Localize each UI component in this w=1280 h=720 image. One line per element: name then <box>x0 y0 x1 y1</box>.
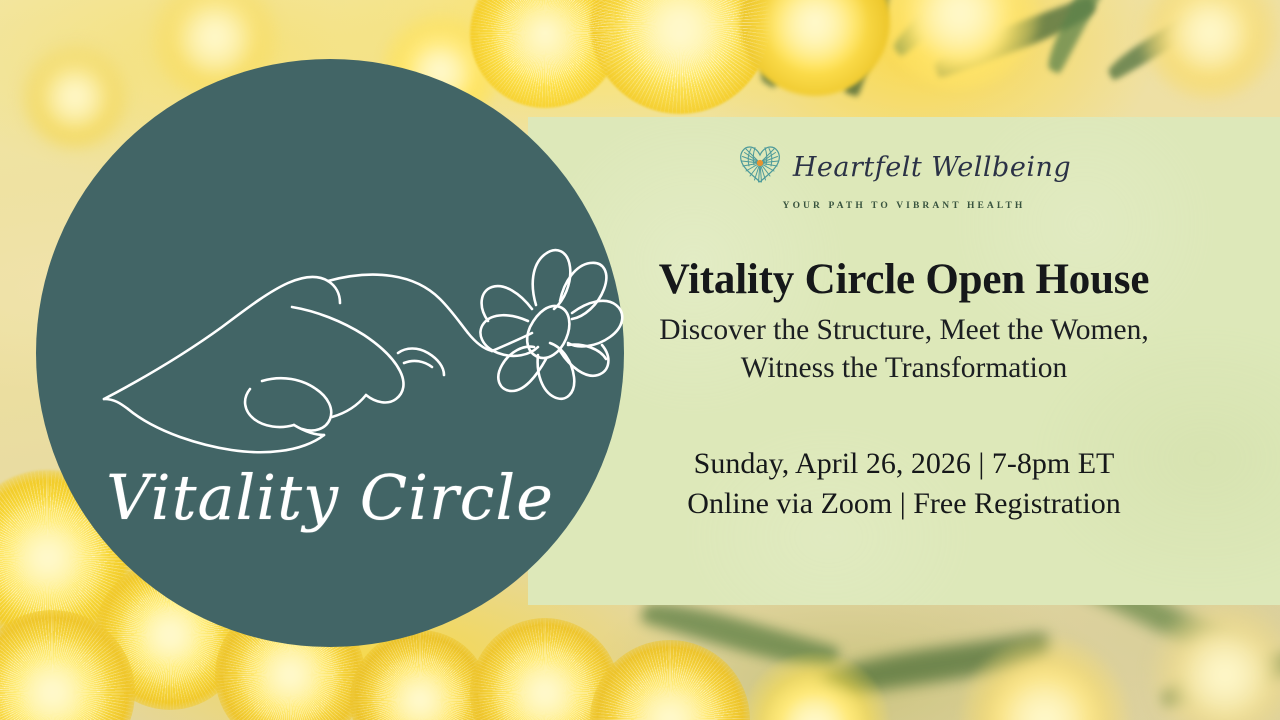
brand-name: Heartfelt Wellbeing <box>793 152 1071 183</box>
event-subtitle: Discover the Structure, Meet the Women, … <box>550 312 1258 386</box>
event-date-time: Sunday, April 26, 2026 | 7-8pm ET <box>550 444 1258 484</box>
headline-block: Vitality Circle Open House Discover the … <box>528 257 1280 387</box>
event-location-registration: Online via Zoom | Free Registration <box>550 484 1258 524</box>
brand-tagline: YOUR PATH TO VIBRANT HEALTH <box>783 201 1026 211</box>
event-title: Vitality Circle Open House <box>550 257 1258 303</box>
event-details: Sunday, April 26, 2026 | 7-8pm ET Online… <box>528 444 1280 524</box>
content-panel: Heartfelt Wellbeing YOUR PATH TO VIBRANT… <box>528 117 1280 605</box>
event-subtitle-line-2: Witness the Transformation <box>550 350 1258 387</box>
heart-line-art-icon <box>737 143 783 192</box>
brand-lockup: Heartfelt Wellbeing YOUR PATH TO VIBRANT… <box>528 143 1280 211</box>
event-subtitle-line-1: Discover the Structure, Meet the Women, <box>550 312 1258 349</box>
